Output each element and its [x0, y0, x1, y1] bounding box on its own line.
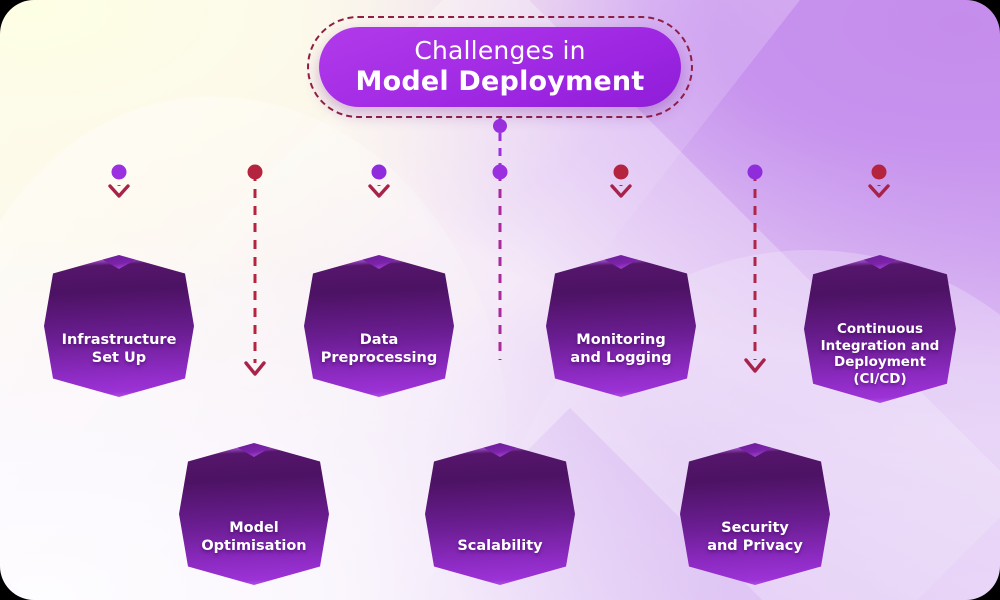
node-security-and-privacy[interactable]: Security and Privacy [680, 443, 830, 585]
hexagon-body: Model Optimisation [179, 443, 329, 585]
node-label: Monitoring and Logging [546, 332, 696, 397]
connector-arrow-2 [246, 363, 264, 374]
connector-dot-5 [614, 165, 629, 180]
node-label-line: Data [360, 332, 399, 348]
node-label: Scalability [425, 538, 575, 585]
title-card: Challenges in Model Deployment [307, 16, 693, 118]
node-label: Infrastructure Set Up [44, 332, 194, 397]
node-label: Model Optimisation [179, 520, 329, 585]
connector-dot-4 [493, 165, 508, 180]
connector-dot-7 [872, 165, 887, 180]
node-label-line: and Privacy [707, 538, 803, 554]
title-line-2: Model Deployment [356, 67, 645, 97]
node-label-line: Model [229, 520, 279, 536]
hexagon-body: Continuous Integration and Deployment (C… [804, 255, 956, 403]
node-monitoring-and-logging[interactable]: Monitoring and Logging [546, 255, 696, 397]
node-label: Security and Privacy [680, 520, 830, 585]
node-label-line: Set Up [92, 350, 146, 366]
title-line-1: Challenges in [414, 37, 585, 65]
node-label-line: Optimisation [201, 538, 306, 554]
node-label-line: Infrastructure [62, 332, 177, 348]
connector-arrow-3 [370, 186, 388, 196]
connector-arrow-6 [746, 360, 764, 371]
connector-dot-3 [372, 165, 387, 180]
node-label-line: Preprocessing [321, 350, 437, 366]
hexagon-body: Infrastructure Set Up [44, 255, 194, 397]
node-label: Continuous Integration and Deployment (C… [804, 321, 956, 403]
node-label-line: Scalability [457, 538, 542, 554]
node-continuous-integration-and-deployment[interactable]: Continuous Integration and Deployment (C… [804, 255, 956, 403]
node-label-line: (CI/CD) [853, 371, 906, 387]
node-label-line: Monitoring [576, 332, 665, 348]
node-label-line: and Logging [570, 350, 671, 366]
connector-dot-6 [748, 165, 763, 180]
connector-arrow-5 [612, 186, 630, 196]
connector-arrow-7 [870, 186, 888, 196]
node-label-line: Deployment [834, 354, 926, 370]
hexagon-body: Scalability [425, 443, 575, 585]
connector-dot-2 [248, 165, 263, 180]
node-infrastructure-set-up[interactable]: Infrastructure Set Up [44, 255, 194, 397]
connector-dot-title [493, 119, 507, 133]
infographic-canvas: Challenges in Model Deployment [0, 0, 1000, 600]
node-model-optimisation[interactable]: Model Optimisation [179, 443, 329, 585]
connector-dot-1 [112, 165, 127, 180]
node-label: Data Preprocessing [304, 332, 454, 397]
title-pill: Challenges in Model Deployment [319, 27, 681, 107]
connector-arrow-1 [110, 186, 128, 196]
node-data-preprocessing[interactable]: Data Preprocessing [304, 255, 454, 397]
hexagon-body: Monitoring and Logging [546, 255, 696, 397]
hexagon-body: Security and Privacy [680, 443, 830, 585]
node-label-line: Continuous [837, 321, 923, 337]
node-label-line: Integration and [821, 338, 940, 354]
hexagon-body: Data Preprocessing [304, 255, 454, 397]
node-label-line: Security [721, 520, 789, 536]
node-scalability[interactable]: Scalability [425, 443, 575, 585]
